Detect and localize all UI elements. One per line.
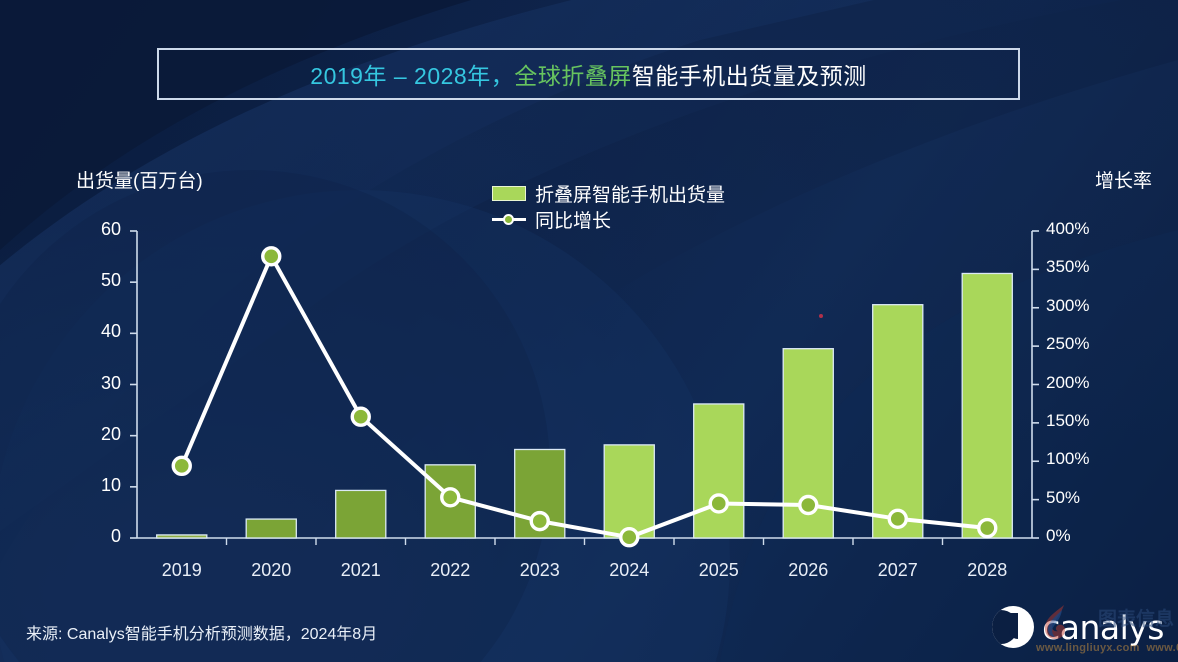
y-axis-tick-right: 400% xyxy=(1046,219,1116,239)
bar-2024[interactable] xyxy=(604,445,654,538)
flame-logo-icon xyxy=(1038,602,1078,642)
chart-title-box: 2019年 – 2028年，全球折叠屏智能手机出货量及预测 xyxy=(157,48,1020,100)
bar-2019[interactable] xyxy=(157,535,207,538)
bar-2025[interactable] xyxy=(694,404,744,538)
y-axis-tick-right: 300% xyxy=(1046,296,1116,316)
x-axis-label-2028: 2028 xyxy=(942,560,1032,581)
y-axis-tick-left: 10 xyxy=(75,475,121,496)
x-axis-label-2023: 2023 xyxy=(495,560,585,581)
growth-marker-2020[interactable] xyxy=(263,248,280,265)
y-axis-tick-left: 30 xyxy=(75,373,121,394)
growth-marker-2024[interactable] xyxy=(621,529,638,546)
y-axis-tick-right: 200% xyxy=(1046,373,1116,393)
y-axis-tick-left: 50 xyxy=(75,270,121,291)
y-axis-tick-right: 0% xyxy=(1046,526,1116,546)
x-axis-label-2026: 2026 xyxy=(763,560,853,581)
bar-2021[interactable] xyxy=(336,490,386,538)
growth-marker-2025[interactable] xyxy=(710,495,727,512)
y-axis-tick-right: 350% xyxy=(1046,257,1116,277)
growth-marker-2021[interactable] xyxy=(352,408,369,425)
source-note: 来源: Canalys智能手机分析预测数据，2024年8月 xyxy=(26,620,377,644)
stray-red-dot-artifact xyxy=(819,314,823,318)
bar-2020[interactable] xyxy=(246,519,296,538)
y-axis-tick-left: 40 xyxy=(75,321,121,342)
legend-item-shipments[interactable]: 折叠屏智能手机出货量 xyxy=(492,180,725,206)
y-axis-tick-right: 250% xyxy=(1046,334,1116,354)
title-part-rest: 智能手机出货量及预测 xyxy=(632,63,867,89)
growth-marker-2027[interactable] xyxy=(889,510,906,527)
page-title: 2019年 – 2028年，全球折叠屏智能手机出货量及预测 xyxy=(310,57,866,91)
y-axis-tick-left: 20 xyxy=(75,424,121,445)
growth-marker-2019[interactable] xyxy=(173,457,190,474)
growth-marker-2023[interactable] xyxy=(531,513,548,530)
title-part-range: 2019年 – 2028年， xyxy=(310,63,514,89)
right-axis-title: 增长率 xyxy=(1095,166,1152,193)
legend-item-growth[interactable]: 同比增长 xyxy=(492,206,725,232)
x-axis-label-2020: 2020 xyxy=(226,560,316,581)
x-axis-label-2027: 2027 xyxy=(853,560,943,581)
growth-line[interactable] xyxy=(182,256,988,537)
chart-legend: 折叠屏智能手机出货量 同比增长 xyxy=(492,180,725,232)
bar-2028[interactable] xyxy=(962,273,1012,538)
x-axis-label-2019: 2019 xyxy=(137,560,227,581)
y-axis-tick-left: 0 xyxy=(75,526,121,547)
legend-label-growth: 同比增长 xyxy=(535,206,611,233)
y-axis-tick-left: 60 xyxy=(75,219,121,240)
line-marker-icon xyxy=(492,212,526,227)
y-axis-tick-right: 100% xyxy=(1046,449,1116,469)
watermark-cn-text: 图表信息 xyxy=(1098,604,1174,631)
growth-marker-2022[interactable] xyxy=(442,489,459,506)
x-axis-label-2025: 2025 xyxy=(674,560,764,581)
y-axis-tick-right: 50% xyxy=(1046,488,1116,508)
legend-label-shipments: 折叠屏智能手机出货量 xyxy=(535,180,725,207)
x-axis-label-2021: 2021 xyxy=(316,560,406,581)
y-axis-tick-right: 150% xyxy=(1046,411,1116,431)
growth-marker-2028[interactable] xyxy=(979,520,996,537)
left-axis-title: 出货量(百万台) xyxy=(76,166,203,193)
bar-swatch-icon xyxy=(492,186,526,201)
growth-marker-2026[interactable] xyxy=(800,496,817,513)
x-axis-label-2022: 2022 xyxy=(405,560,495,581)
bar-2027[interactable] xyxy=(873,305,923,538)
watermark-url: www.lingliuyx.com www.08ayx.com xyxy=(1036,642,1178,654)
title-part-highlight: 全球折叠屏 xyxy=(514,63,632,89)
canalys-mark-icon xyxy=(992,606,1034,648)
x-axis-label-2024: 2024 xyxy=(584,560,674,581)
